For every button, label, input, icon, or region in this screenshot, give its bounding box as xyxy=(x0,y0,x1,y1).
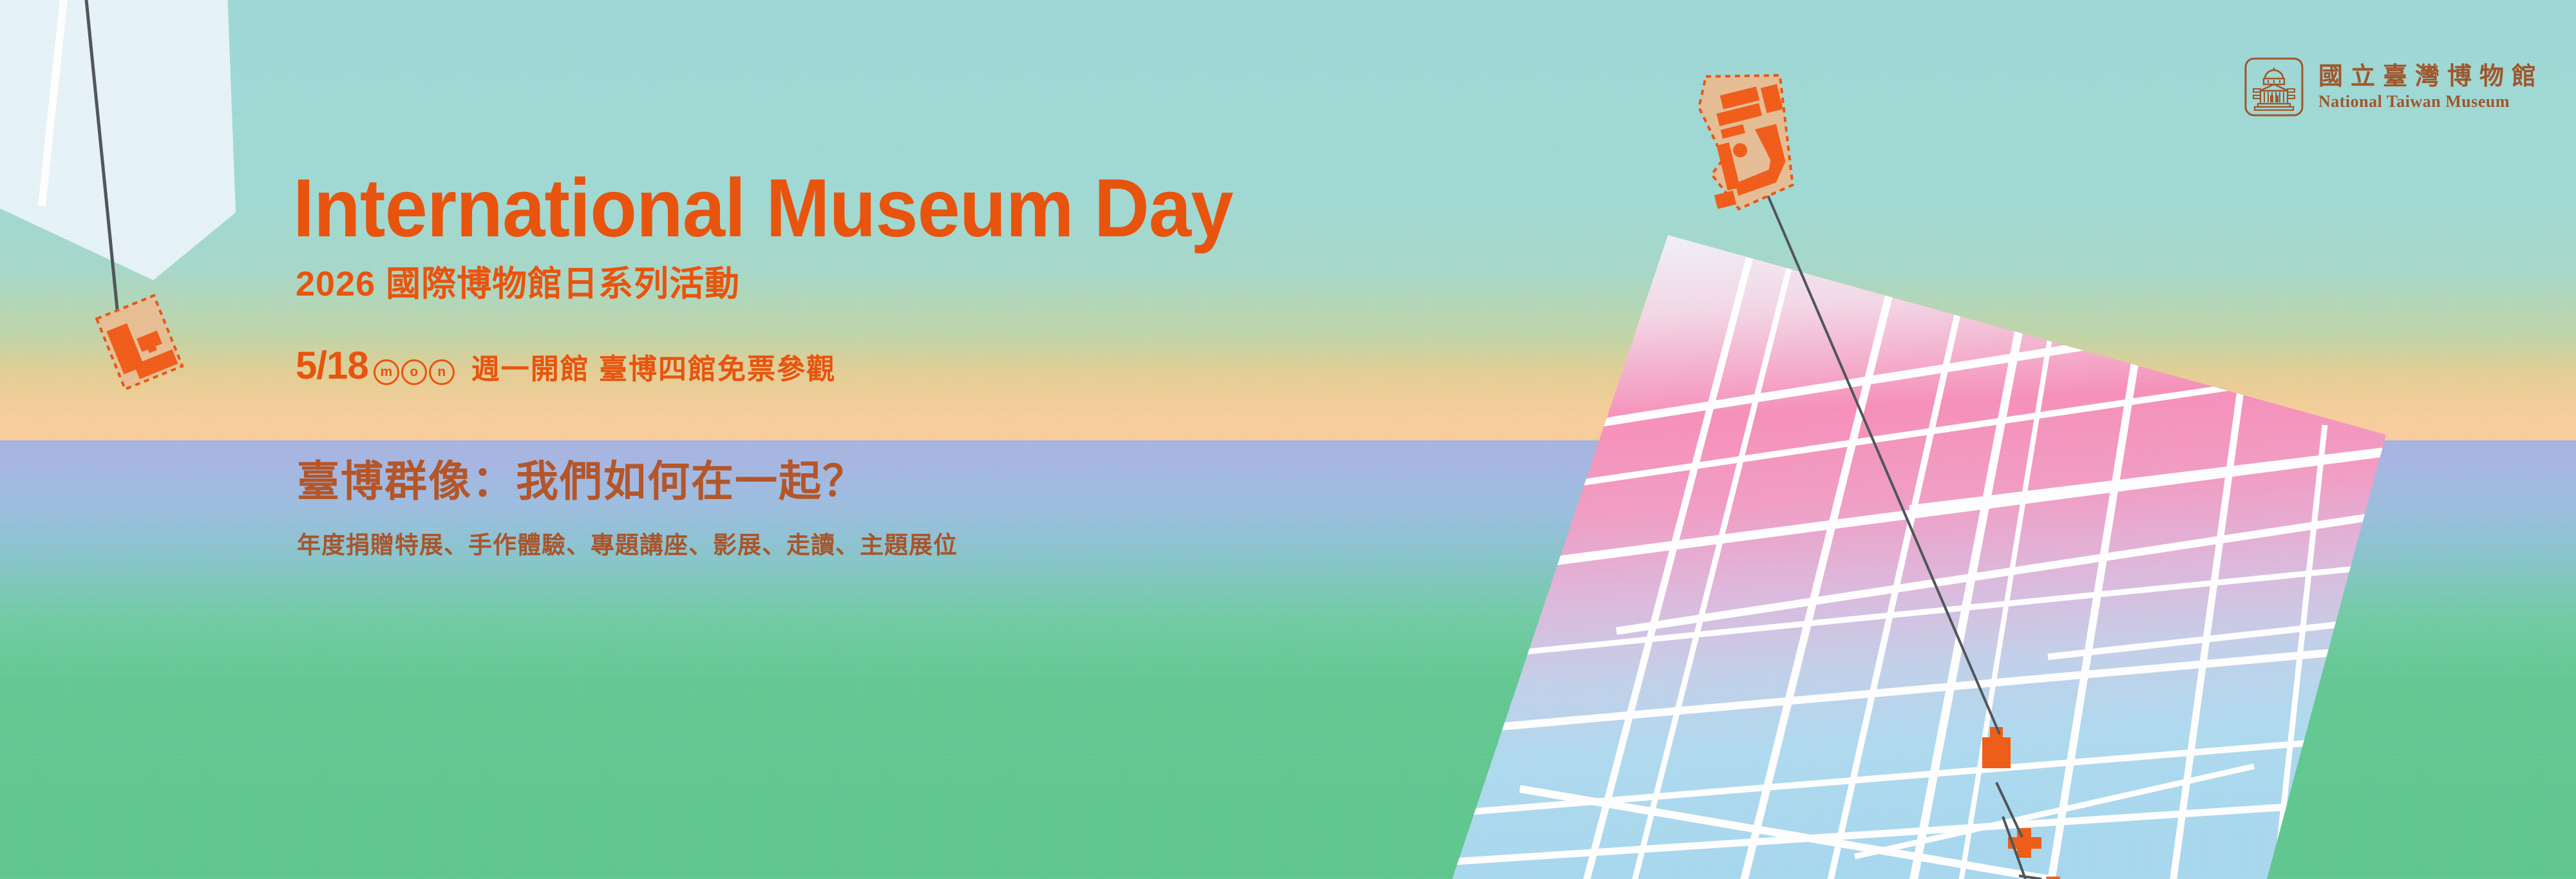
museum-name-chinese: 國立臺灣博物館 xyxy=(2318,63,2544,91)
program-subtitle: 臺博群像：我們如何在一起？ xyxy=(297,447,1323,509)
event-date-row: 5/18 m o n 週一開館 臺博四館免票參觀 xyxy=(296,346,1323,388)
page-title-english: International Museum Day xyxy=(293,167,1251,250)
page-title-chinese: 2026 國際博物館日系列活動 xyxy=(296,267,1323,301)
museum-name-english: National Taiwan Museum xyxy=(2318,93,2544,111)
museum-building-icon xyxy=(2244,57,2304,117)
program-description: 年度捐贈特展、手作體驗、專題講座、影展、走讀、主題展位 xyxy=(297,525,1323,560)
dow-letter-m: m xyxy=(374,359,399,385)
event-day-of-week: m o n xyxy=(374,359,455,385)
headline-text-block: International Museum Day 2026 國際博物館日系列活動… xyxy=(293,167,1323,560)
international-museum-day-banner: International Museum Day 2026 國際博物館日系列活動… xyxy=(0,0,2576,879)
museum-logo-text: 國立臺灣博物館 National Taiwan Museum xyxy=(2318,63,2544,111)
event-date-note: 週一開館 臺博四館免票參觀 xyxy=(471,355,836,384)
dow-letter-o: o xyxy=(401,359,427,385)
museum-logo: 國立臺灣博物館 National Taiwan Museum xyxy=(2244,57,2544,117)
dow-letter-n: n xyxy=(429,359,455,385)
event-date-number: 5/18 xyxy=(296,346,368,385)
